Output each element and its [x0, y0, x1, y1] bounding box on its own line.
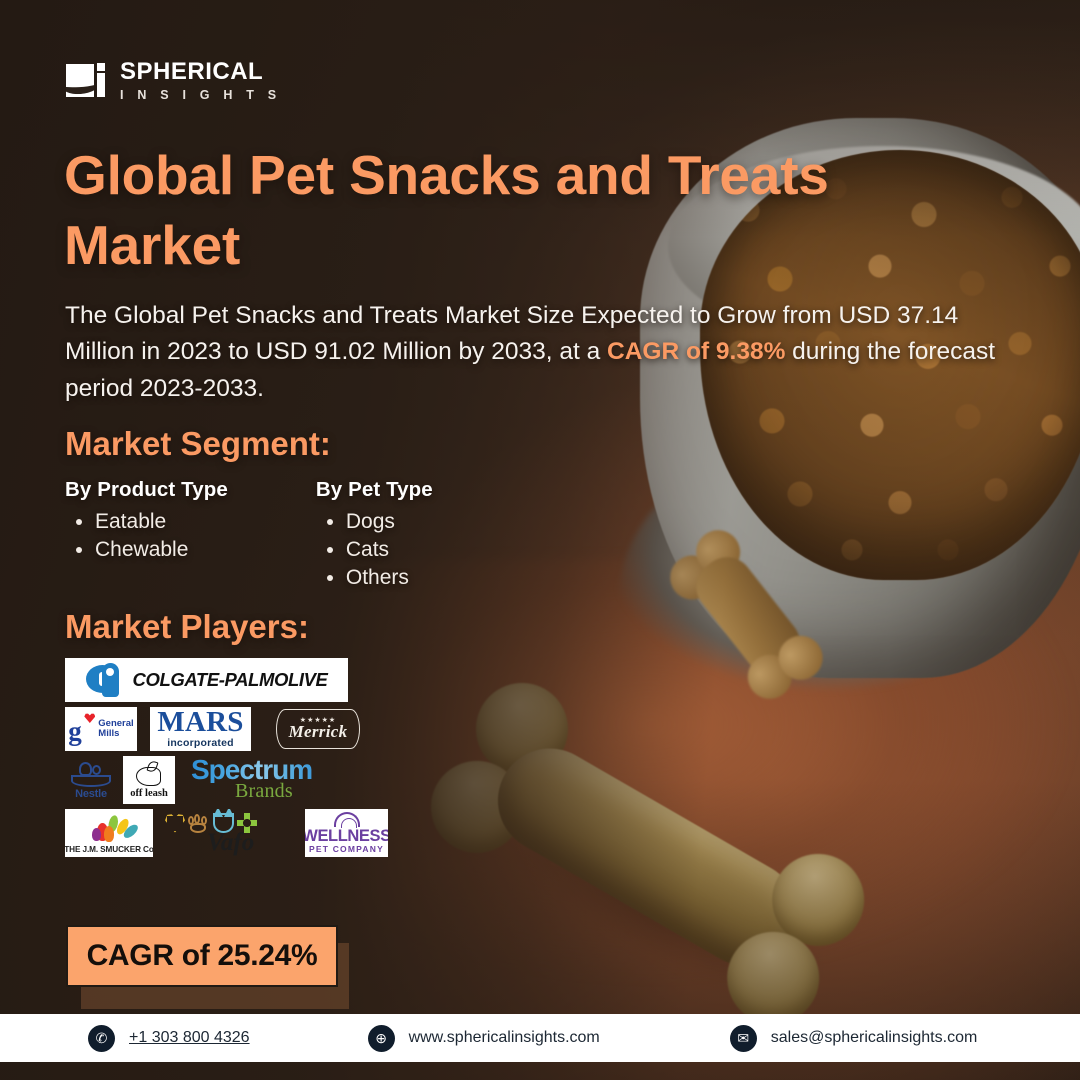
- logo-text-line2: PET COMPANY: [309, 844, 384, 854]
- logo-text: Nestle: [75, 788, 107, 800]
- market-players-heading: Market Players:: [65, 608, 309, 646]
- logo-text-line1: Spectrum: [191, 757, 312, 784]
- footer-phone-text[interactable]: +1 303 800 4326: [129, 1029, 250, 1047]
- logo-text: off leash: [130, 788, 168, 799]
- footer-phone[interactable]: ✆ +1 303 800 4326: [88, 1025, 250, 1052]
- logo-text: Merrick: [289, 722, 348, 742]
- logo-general-mills: g General Mills: [65, 707, 137, 751]
- logo-row-1: COLGATE-PALMOLIVE: [65, 658, 395, 702]
- list-item: Chewable: [95, 536, 228, 564]
- logo-nestle: Nestle: [65, 756, 117, 804]
- logo-vafo: Vafo: [163, 809, 281, 857]
- dog-head-icon: [134, 761, 164, 787]
- segment-column-pet-type: By Pet Type Dogs Cats Others: [316, 478, 433, 592]
- logo-jm-smucker: THE J.M. SMUCKER Co: [65, 809, 153, 857]
- market-segment-heading: Market Segment:: [65, 425, 331, 463]
- segment-title-product-type: By Product Type: [65, 478, 228, 502]
- logo-mars-incorporated: MARS incorporated: [150, 707, 251, 751]
- cagr-badge-label: CAGR of 25.24%: [87, 939, 318, 973]
- infographic-page: SPHERICAL I N S I G H T S Global Pet Sna…: [0, 0, 1080, 1080]
- logo-off-leash: off leash: [123, 756, 175, 804]
- footer-email[interactable]: ✉ sales@sphericalinsights.com: [730, 1025, 978, 1052]
- colgate-palmolive-icon: [86, 663, 124, 697]
- logo-text: COLGATE-PALMOLIVE: [133, 669, 328, 691]
- brand-subtitle: I N S I G H T S: [120, 89, 281, 102]
- spherical-insights-logo-icon: [66, 60, 107, 101]
- logo-row-3: Nestle off leash Spectrum Brands: [65, 756, 395, 804]
- brand-logo: SPHERICAL I N S I G H T S: [66, 60, 281, 102]
- wellness-sunburst-icon: [334, 812, 360, 827]
- footer-website[interactable]: ⊕ www.sphericalinsights.com: [368, 1025, 600, 1052]
- description-text: The Global Pet Snacks and Treats Market …: [65, 298, 1025, 407]
- segment-column-product-type: By Product Type Eatable Chewable: [65, 478, 228, 592]
- footer-contact-bar: ✆ +1 303 800 4326 ⊕ www.sphericalinsight…: [0, 1014, 1080, 1062]
- logo-colgate-palmolive: COLGATE-PALMOLIVE: [65, 658, 348, 702]
- page-title: Global Pet Snacks and Treats Market: [64, 140, 894, 281]
- logo-text-line2: Brands: [235, 780, 293, 803]
- logo-text-line2: Mills: [98, 729, 133, 739]
- logo-row-4: THE J.M. SMUCKER Co Vafo: [65, 809, 395, 857]
- list-item: Eatable: [95, 508, 228, 536]
- logo-text-line1: WELLNESS: [305, 828, 388, 845]
- general-mills-icon: g: [68, 713, 94, 745]
- market-segment-columns: By Product Type Eatable Chewable By Pet …: [65, 478, 433, 592]
- smucker-fruit-icon: [87, 815, 131, 845]
- nestle-bird-nest-icon: [69, 761, 113, 787]
- logo-text-line2: incorporated: [167, 737, 234, 749]
- footer-website-text[interactable]: www.sphericalinsights.com: [409, 1029, 600, 1047]
- logo-text: Vafo: [207, 829, 254, 857]
- logo-merrick: ★★★★★ Merrick: [276, 709, 360, 749]
- logo-spectrum-brands: Spectrum Brands: [191, 756, 343, 804]
- description-highlight: CAGR of 9.38%: [607, 338, 785, 365]
- list-item: Cats: [346, 536, 433, 564]
- logo-text-line1: MARS: [157, 709, 243, 737]
- footer-email-text[interactable]: sales@sphericalinsights.com: [771, 1029, 978, 1047]
- logo-wellness-pet-company: WELLNESS PET COMPANY: [305, 809, 388, 857]
- market-players-logos: COLGATE-PALMOLIVE g General Mills MARS i…: [65, 658, 395, 862]
- heart-icon: [165, 814, 185, 833]
- segment-title-pet-type: By Pet Type: [316, 478, 433, 502]
- logo-row-2: g General Mills MARS incorporated ★★★★★ …: [65, 707, 395, 751]
- cagr-badge: CAGR of 25.24%: [66, 925, 338, 987]
- phone-icon: ✆: [88, 1025, 115, 1052]
- envelope-icon: ✉: [730, 1025, 757, 1052]
- globe-icon: ⊕: [368, 1025, 395, 1052]
- list-item: Dogs: [346, 508, 433, 536]
- list-item: Others: [346, 564, 433, 592]
- logo-text: THE J.M. SMUCKER Co: [65, 845, 153, 854]
- brand-name: SPHERICAL: [120, 60, 281, 84]
